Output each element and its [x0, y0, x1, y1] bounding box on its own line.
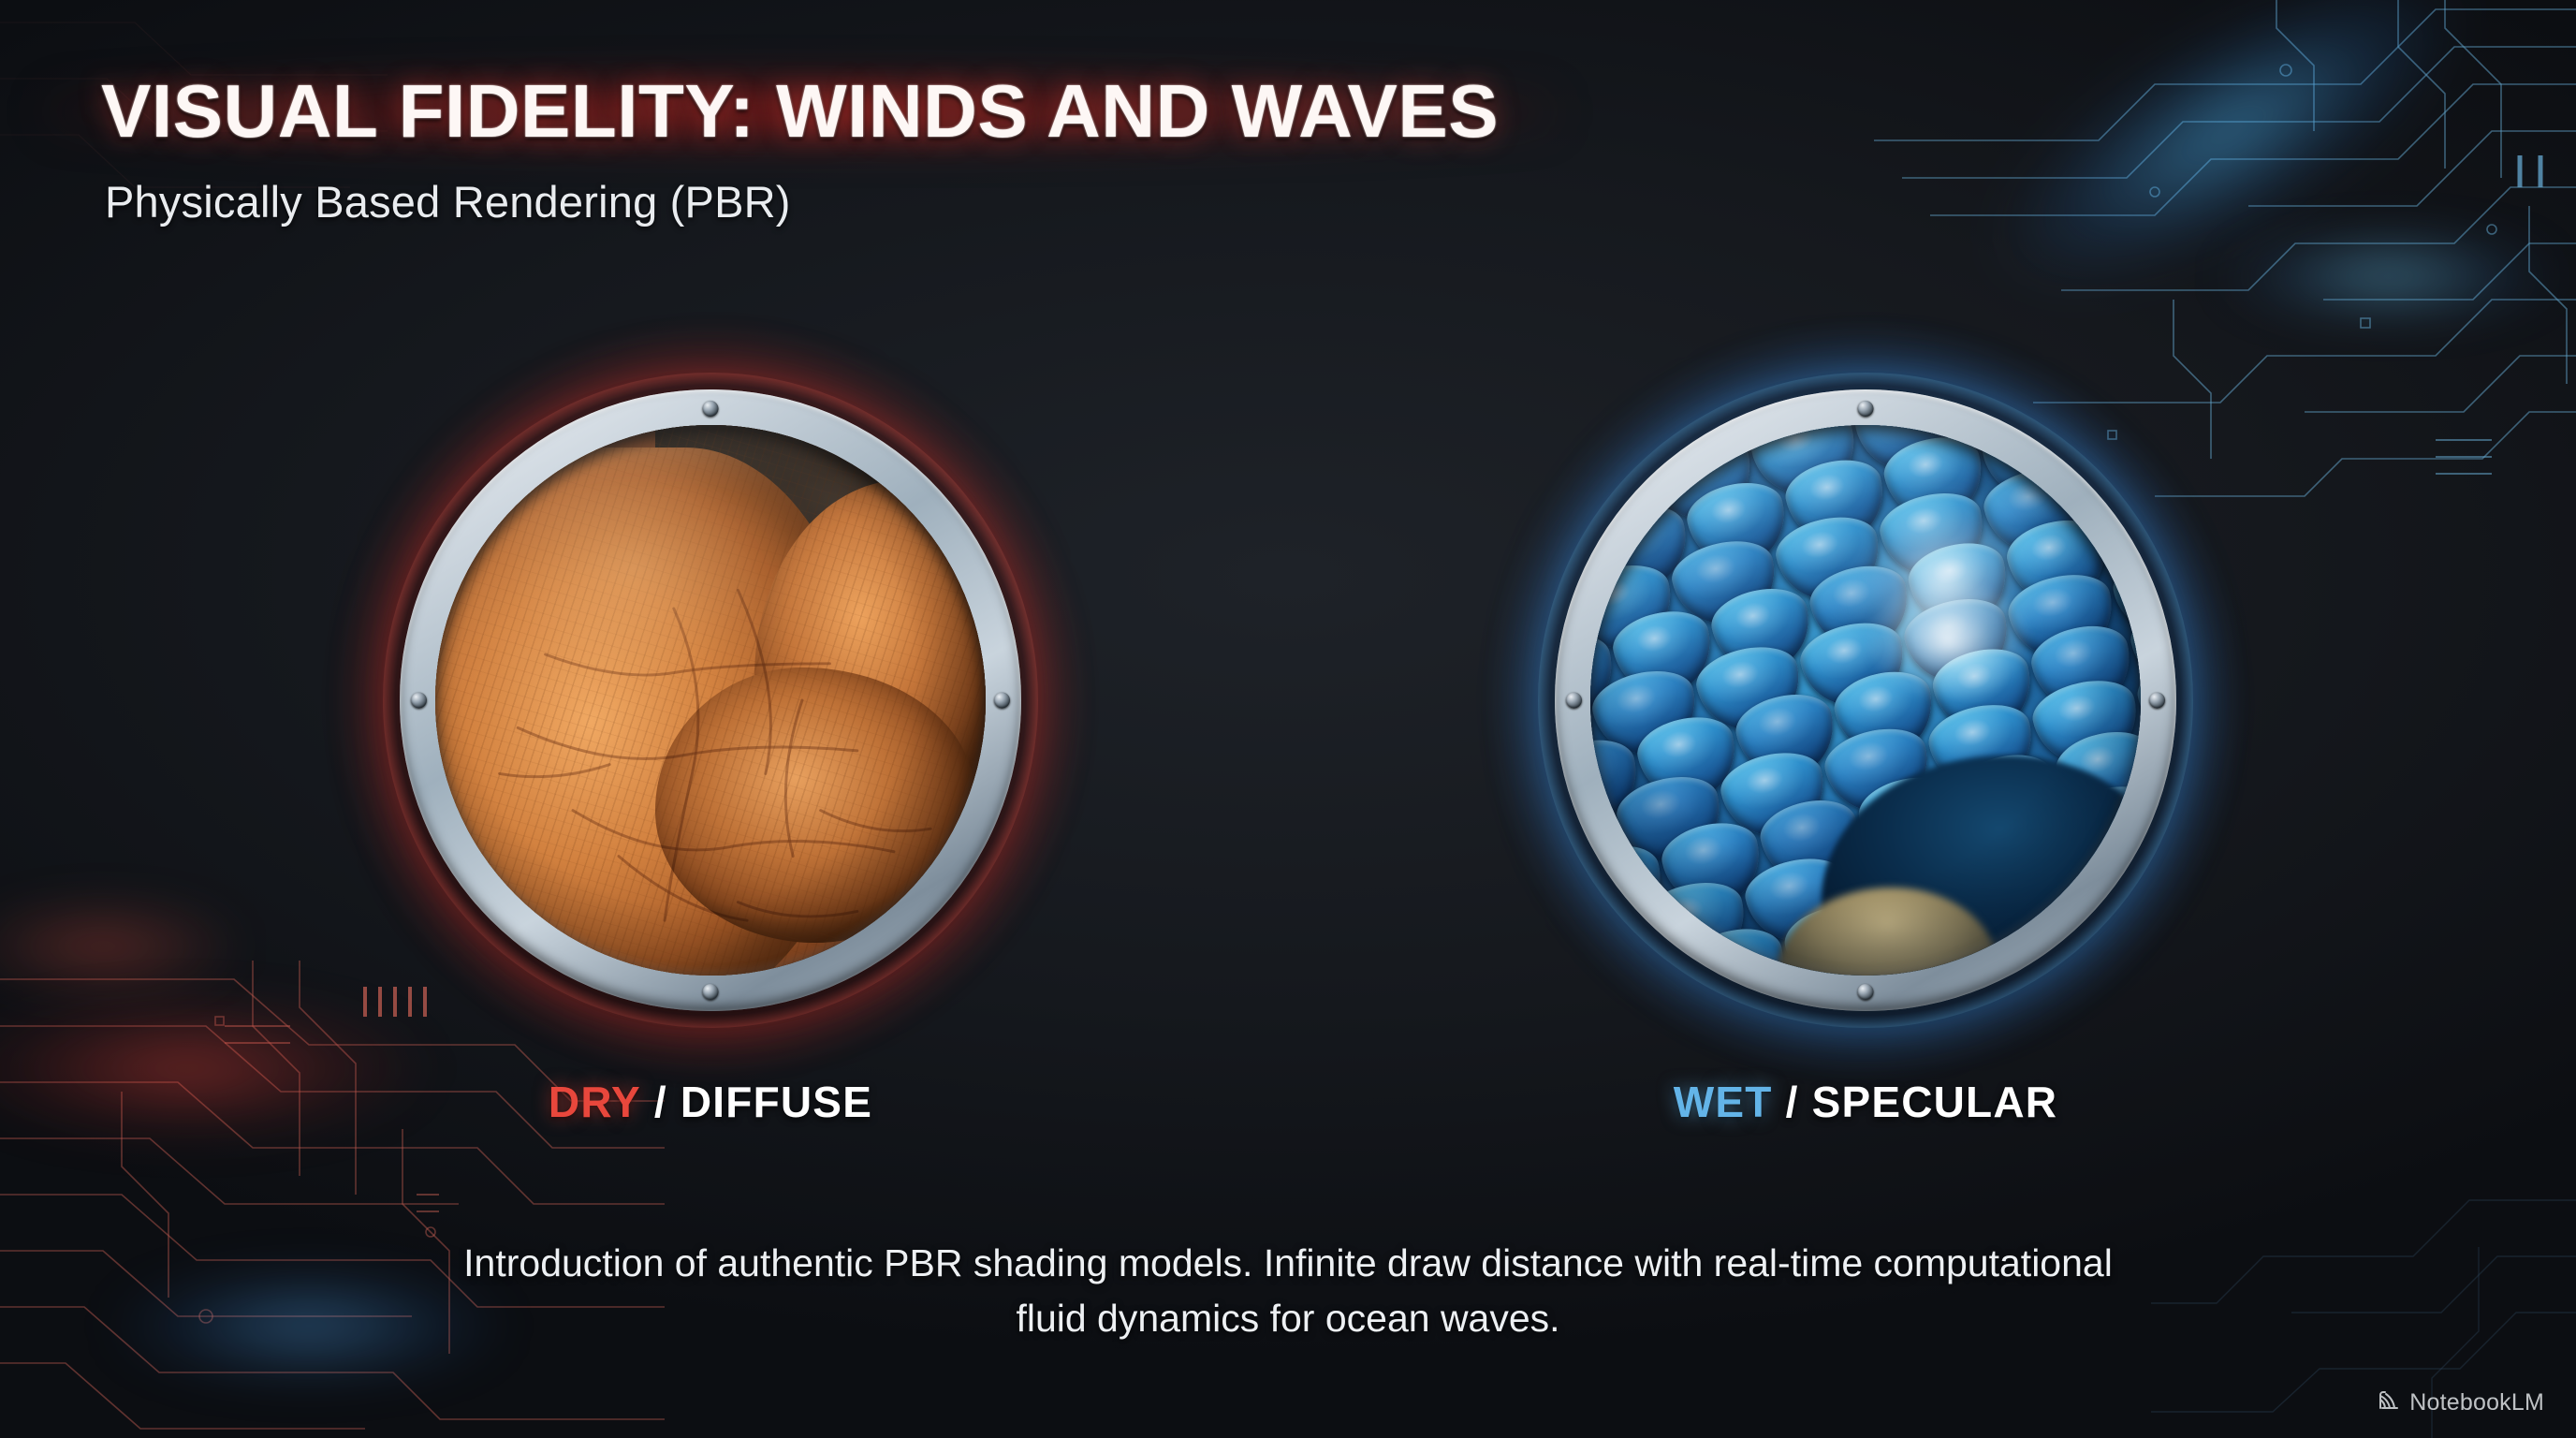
- porthole-rivet-icon: [703, 984, 719, 1000]
- caption-separator: /: [654, 1078, 667, 1126]
- caption-plain-diffuse: DIFFUSE: [681, 1078, 872, 1126]
- panel-dry-diffuse: DRY / DIFFUSE: [355, 373, 1066, 1127]
- page-subtitle: Physically Based Rendering (PBR): [105, 176, 2348, 227]
- lens-flare-top-right-2: [2220, 234, 2557, 318]
- caption-plain-specular: SPECULAR: [1812, 1078, 2058, 1126]
- panel-wet-specular: WET / SPECULAR: [1510, 373, 2221, 1127]
- caption-dry-diffuse: DRY / DIFFUSE: [549, 1077, 872, 1127]
- porthole-wet-specular: [1538, 373, 2193, 1028]
- texture-dry-hide: [435, 425, 986, 976]
- porthole-rivet-icon: [994, 693, 1010, 709]
- slide-header: VISUAL FIDELITY: WINDS AND WAVES Physica…: [101, 73, 2348, 227]
- notebooklm-watermark-label: NotebookLM: [2409, 1389, 2544, 1416]
- porthole-rivet-icon: [1858, 984, 1874, 1000]
- porthole-rivet-icon: [2149, 693, 2165, 709]
- texture-wet-scales: [1590, 425, 2141, 976]
- porthole-rivet-icon: [1858, 401, 1874, 417]
- porthole-rivet-icon: [411, 693, 427, 709]
- porthole-rivet-icon: [1566, 693, 1582, 709]
- comparison-panels: DRY / DIFFUSE: [0, 373, 2576, 1127]
- page-title: VISUAL FIDELITY: WINDS AND WAVES: [101, 73, 1499, 150]
- notebooklm-watermark: NotebookLM: [2377, 1388, 2544, 1417]
- title-wrapper: VISUAL FIDELITY: WINDS AND WAVES: [101, 73, 1499, 150]
- porthole-glass-dry: [435, 425, 986, 976]
- caption-accent-wet: WET: [1674, 1078, 1773, 1126]
- notebooklm-spiral-icon: [2377, 1388, 2401, 1417]
- porthole-rivet-icon: [703, 401, 719, 417]
- caption-separator: /: [1786, 1078, 1799, 1126]
- caption-wet-specular: WET / SPECULAR: [1674, 1077, 2057, 1127]
- porthole-glass-wet: [1590, 425, 2141, 976]
- porthole-dry-diffuse: [383, 373, 1038, 1028]
- slide-description: Introduction of authentic PBR shading mo…: [446, 1236, 2130, 1347]
- caption-accent-dry: DRY: [549, 1078, 641, 1126]
- slide-stage: VISUAL FIDELITY: WINDS AND WAVES Physica…: [0, 0, 2576, 1438]
